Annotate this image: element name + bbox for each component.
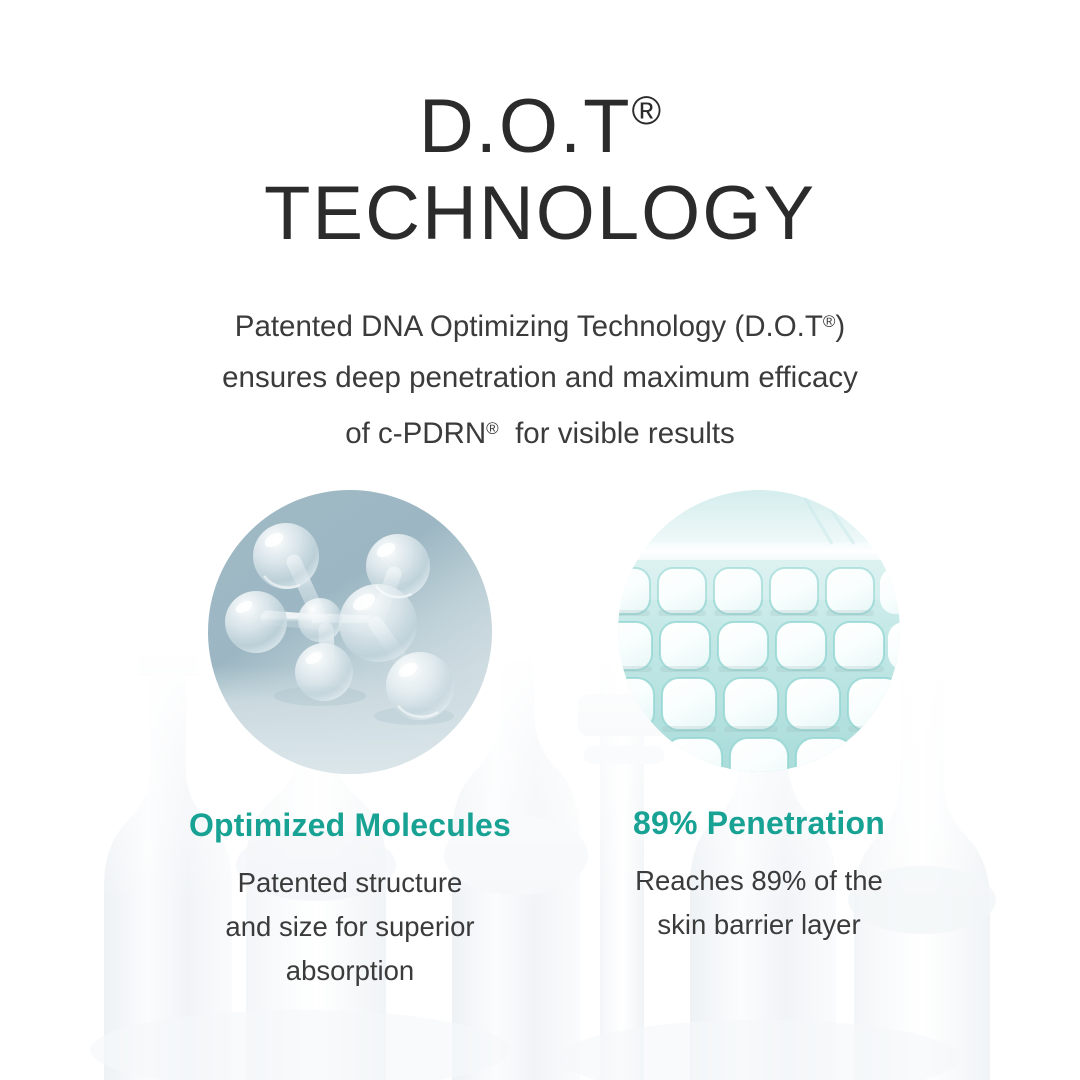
feature-desc-line: absorption: [140, 949, 560, 993]
infographic-page: D.O.T® TECHNOLOGY Patented DNA Optimizin…: [0, 0, 1080, 1080]
page-title: D.O.T® TECHNOLOGY: [0, 68, 1080, 258]
feature-desc-line: Patented structure: [140, 861, 560, 905]
subtitle-line-3-a: of c-PDRN: [345, 417, 486, 450]
feature-title-penetration: 89% Penetration: [549, 804, 969, 842]
subtitle-line-1: Patented DNA Optimizing Technology (D.O.…: [150, 296, 930, 352]
registered-mark-icon: ®: [823, 312, 836, 331]
feature-desc-line: skin barrier layer: [549, 903, 969, 947]
subtitle-line-3-b: for visible results: [499, 417, 735, 450]
title-line-2: TECHNOLOGY: [0, 170, 1080, 258]
subtitle-line-2: ensures deep penetration and maximum eff…: [150, 352, 930, 403]
feature-desc-line: and size for superior: [140, 905, 560, 949]
feature-desc-line: Reaches 89% of the: [549, 859, 969, 903]
subtitle-line-1-b: ): [835, 310, 845, 343]
feature-description-penetration: Reaches 89% of the skin barrier layer: [549, 859, 969, 947]
subtitle-line-1-a: Patented DNA Optimizing Technology (D.O.…: [235, 310, 823, 343]
feature-description-optimized-molecules: Patented structure and size for superior…: [140, 861, 560, 993]
feature-card-optimized-molecules: Optimized Molecules Patented structure a…: [140, 490, 560, 993]
lattice-image-svg: [618, 490, 900, 772]
molecule-3d-illustration: [208, 490, 492, 774]
feature-card-penetration: 89% Penetration Reaches 89% of the skin …: [549, 490, 969, 947]
page-subtitle: Patented DNA Optimizing Technology (D.O.…: [150, 296, 930, 459]
title-line-1: D.O.T®: [0, 68, 1080, 170]
feature-title-optimized-molecules: Optimized Molecules: [140, 806, 560, 844]
molecule-image-svg: [208, 490, 492, 774]
registered-mark-icon: ®: [632, 89, 661, 133]
skin-barrier-lattice-illustration: [618, 490, 900, 772]
subtitle-line-3: of c-PDRN® for visible results: [150, 403, 930, 459]
registered-mark-icon: ®: [486, 419, 499, 438]
title-line-1-text: D.O.T: [419, 84, 632, 169]
